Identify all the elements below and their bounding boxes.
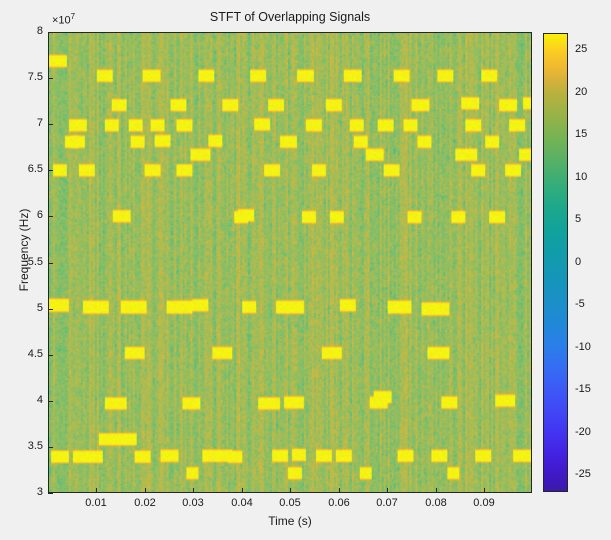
x-axis-tick	[96, 488, 97, 493]
y-axis-tick-label: 7.5	[3, 71, 43, 83]
y-axis-tick-label: 7	[3, 117, 43, 129]
y-axis-exponent-power: 7	[71, 12, 75, 21]
x-axis-tick	[290, 488, 291, 493]
colorbar-tick-label: -10	[575, 341, 591, 353]
spectrogram-image[interactable]	[49, 33, 531, 492]
y-axis-label: Frequency (Hz)	[17, 180, 31, 320]
y-axis-tick	[48, 216, 53, 217]
y-axis-tick-label: 4	[3, 394, 43, 406]
y-axis-tick-label: 6.5	[3, 163, 43, 175]
spectrogram-axes[interactable]	[48, 32, 532, 493]
colorbar-gradient	[544, 34, 567, 491]
x-axis-tick-label: 0.09	[454, 497, 514, 509]
y-axis-tick-label: 8	[3, 25, 43, 37]
figure-window: STFT of Overlapping Signals ×107 33.544.…	[0, 0, 611, 540]
y-axis-tick-label: 3.5	[3, 440, 43, 452]
colorbar-tick-label: -15	[575, 383, 591, 395]
colorbar-tick-label: 5	[575, 213, 581, 225]
colorbar-tick-label: -20	[575, 426, 591, 438]
y-axis-tick	[48, 78, 53, 79]
y-axis-exponent-base: ×10	[52, 15, 71, 27]
y-axis-tick-label: 4.5	[3, 348, 43, 360]
y-axis-tick	[48, 493, 53, 494]
colorbar-tick-label: 10	[575, 171, 587, 183]
y-axis-tick	[48, 447, 53, 448]
colorbar-tick-label: -25	[575, 468, 591, 480]
y-axis-tick	[48, 263, 53, 264]
x-axis-tick	[145, 488, 146, 493]
x-axis-tick	[193, 488, 194, 493]
colorbar-tick-label: 0	[575, 256, 581, 268]
y-axis-tick	[48, 32, 53, 33]
y-axis-tick	[48, 401, 53, 402]
colorbar-tick-label: 25	[575, 43, 587, 55]
colorbar-tick-label: 20	[575, 86, 587, 98]
colorbar-tick-label: -5	[575, 298, 585, 310]
x-axis-tick	[242, 488, 243, 493]
colorbar[interactable]	[543, 33, 568, 492]
x-axis-tick	[339, 488, 340, 493]
x-axis-label: Time (s)	[48, 514, 532, 528]
x-axis-tick	[436, 488, 437, 493]
y-axis-tick	[48, 124, 53, 125]
y-axis-exponent-label: ×107	[52, 12, 75, 27]
y-axis-tick	[48, 170, 53, 171]
colorbar-tick-label: 15	[575, 128, 587, 140]
y-axis-tick	[48, 355, 53, 356]
y-axis-tick	[48, 309, 53, 310]
x-axis-tick	[387, 488, 388, 493]
x-axis-tick	[484, 488, 485, 493]
y-axis-tick-label: 3	[3, 486, 43, 498]
page-title: STFT of Overlapping Signals	[48, 10, 532, 24]
